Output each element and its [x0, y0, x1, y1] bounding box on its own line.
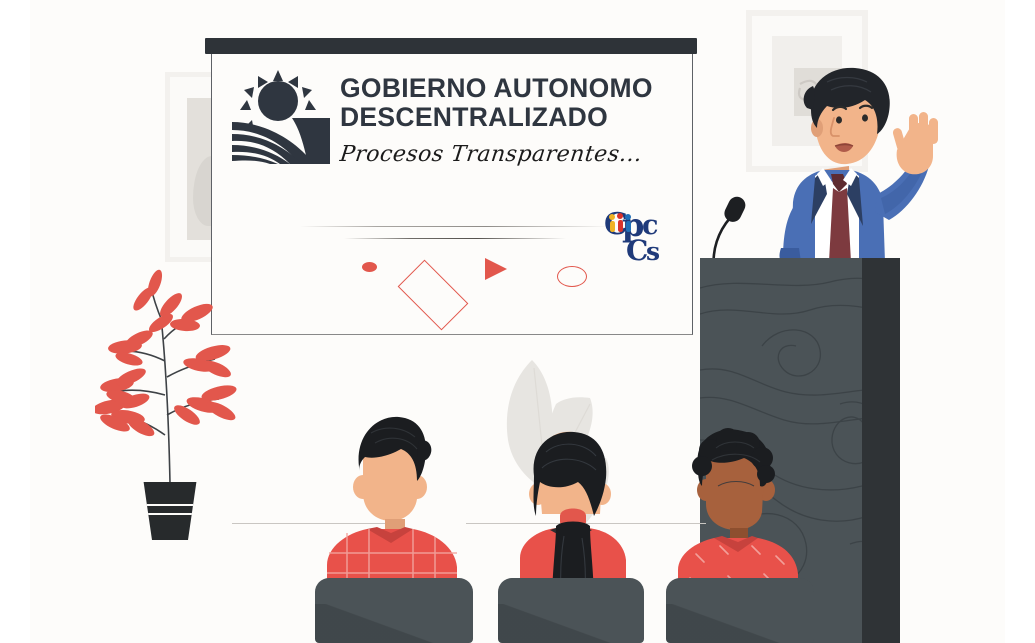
plant-pot — [140, 482, 200, 540]
svg-text:C: C — [626, 234, 648, 266]
attendee-left-chair — [315, 578, 473, 643]
shape-filled-ellipse — [362, 262, 377, 272]
shape-triangle — [485, 258, 507, 280]
pot-stripe — [140, 513, 200, 515]
slide-title-line2: DESCENTRALIZADO — [340, 103, 685, 132]
slide-title: GOBIERNO AUTONOMO DESCENTRALIZADO — [340, 74, 685, 131]
chair-sheen — [666, 604, 814, 643]
cpccs-figures — [609, 213, 631, 232]
attendee-right-chair — [666, 578, 814, 643]
pot-stripe — [140, 504, 200, 506]
cpccs-logo: C p c C s — [604, 204, 678, 266]
illustration-canvas: GOBIERNO AUTONOMO DESCENTRALIZADO Proces… — [0, 0, 1035, 643]
attendee-left — [305, 415, 485, 643]
svg-text:s: s — [646, 237, 660, 266]
attendee-right — [660, 428, 815, 643]
attendee-right-figure — [660, 428, 815, 603]
potted-plant — [95, 265, 245, 540]
podium-side — [862, 258, 900, 643]
slide-title-line1: GOBIERNO AUTONOMO — [340, 74, 685, 103]
speaker-at-podium — [735, 62, 950, 267]
shape-diamond-outline — [398, 260, 469, 331]
slide-subtitle: Procesos Transparentes... — [338, 142, 686, 167]
screen-mount-bar — [205, 38, 697, 54]
slide-divider-bottom — [344, 238, 566, 239]
attendee-left-figure — [305, 415, 485, 600]
attendee-center — [490, 430, 650, 643]
projector-screen[interactable]: GOBIERNO AUTONOMO DESCENTRALIZADO Proces… — [205, 38, 697, 338]
screen-panel: GOBIERNO AUTONOMO DESCENTRALIZADO Proces… — [211, 54, 693, 335]
attendee-center-chair — [498, 578, 644, 643]
plant-foliage — [95, 265, 245, 485]
chair-sheen — [498, 604, 644, 643]
presentation-slide: GOBIERNO AUTONOMO DESCENTRALIZADO Proces… — [212, 54, 692, 334]
sun-hills-logo — [230, 68, 340, 168]
chair-sheen — [315, 604, 473, 643]
slide-divider-top — [300, 226, 610, 227]
shape-ellipse-outline — [557, 266, 587, 287]
